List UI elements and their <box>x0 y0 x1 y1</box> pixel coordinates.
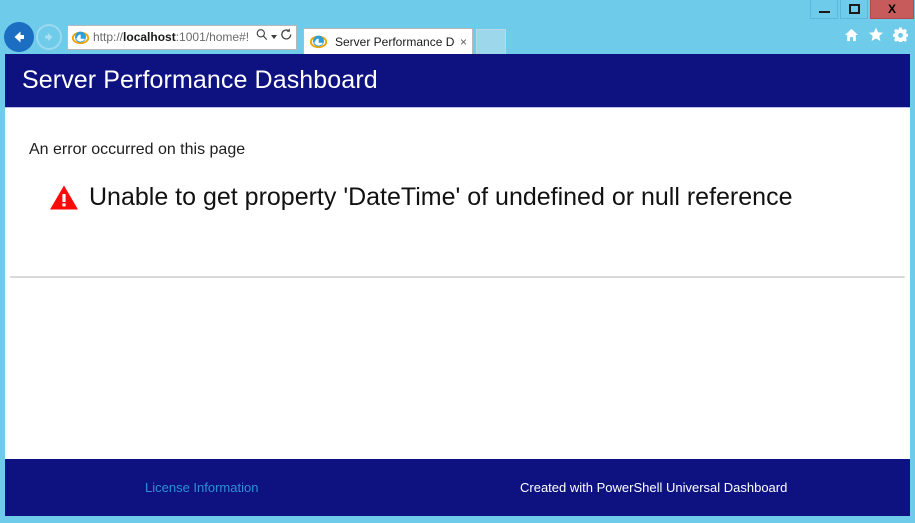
back-arrow-icon <box>10 28 28 46</box>
browser-navbar: http://localhost:1001/home#! <box>0 20 915 54</box>
browser-toolbar-icons <box>844 27 908 42</box>
gear-icon[interactable] <box>893 27 908 42</box>
search-icon[interactable] <box>256 28 268 46</box>
content-divider <box>10 276 905 278</box>
window-titlebar: X <box>0 0 915 20</box>
url-text: http://localhost:1001/home#! <box>93 30 256 44</box>
favorites-star-icon[interactable] <box>868 27 884 42</box>
home-icon[interactable] <box>844 28 859 42</box>
forward-arrow-icon <box>42 30 56 44</box>
dashboard-header: Server Performance Dashboard <box>5 54 910 108</box>
maximize-icon <box>849 4 860 14</box>
url-host: localhost <box>123 30 176 44</box>
window-controls: X <box>808 0 914 20</box>
footer-credit-text: Created with PowerShell Universal Dashbo… <box>520 480 787 495</box>
license-information-link[interactable]: License Information <box>145 480 258 495</box>
close-window-button[interactable]: X <box>870 0 914 19</box>
url-path: :1001/home#! <box>176 30 249 44</box>
error-subtitle: An error occurred on this page <box>29 141 890 159</box>
warning-triangle-icon <box>49 184 79 211</box>
new-tab-button[interactable] <box>476 29 506 54</box>
chevron-down-icon[interactable] <box>271 35 277 39</box>
tab-close-icon[interactable]: × <box>460 36 467 48</box>
ie-logo-icon <box>72 29 89 46</box>
browser-tab[interactable]: Server Performance Dashbo... × <box>303 28 473 54</box>
minimize-button[interactable] <box>810 0 838 19</box>
back-button[interactable] <box>4 22 34 52</box>
forward-button[interactable] <box>36 24 62 50</box>
dashboard-content: An error occurred on this page Unable to… <box>5 108 910 459</box>
page-title: Server Performance Dashboard <box>22 66 378 95</box>
dashboard-page: Server Performance Dashboard An error oc… <box>5 54 910 516</box>
dashboard-footer: License Information Created with PowerSh… <box>5 459 910 516</box>
browser-window: X <box>0 0 915 523</box>
refresh-icon[interactable] <box>280 28 293 46</box>
tab-favicon-ie-icon <box>310 33 327 50</box>
tab-title: Server Performance Dashbo... <box>335 35 454 49</box>
minimize-icon <box>819 11 830 13</box>
maximize-button[interactable] <box>840 0 868 19</box>
tab-strip: Server Performance Dashbo... × <box>303 20 506 54</box>
address-bar-icons <box>256 28 293 46</box>
error-message: Unable to get property 'DateTime' of und… <box>89 183 792 212</box>
error-row: Unable to get property 'DateTime' of und… <box>49 183 890 212</box>
page-viewport: Server Performance Dashboard An error oc… <box>0 54 915 523</box>
address-bar[interactable]: http://localhost:1001/home#! <box>67 25 297 50</box>
